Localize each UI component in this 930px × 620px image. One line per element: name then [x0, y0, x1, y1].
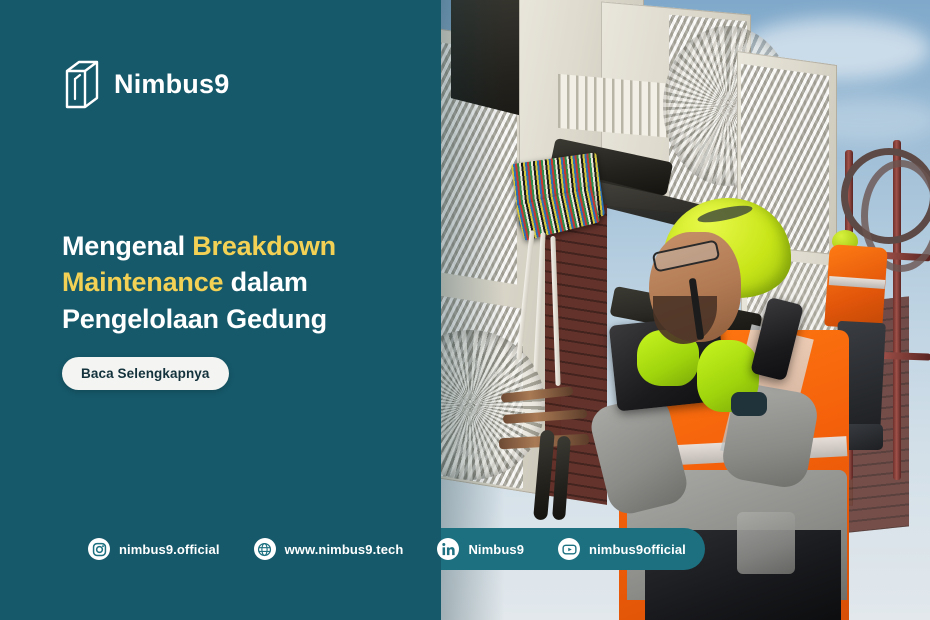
headline-line2-plain: dalam: [223, 267, 307, 297]
isometric-building-icon: [64, 58, 100, 110]
worker1-wristband: [731, 392, 767, 416]
social-bar: nimbus9.official www.nimbus9.tech Ni: [0, 528, 705, 570]
hero-photo: [441, 0, 930, 620]
linkedin-icon: [437, 538, 459, 560]
promo-banner: Nimbus9 Mengenal Breakdown Maintenance d…: [0, 0, 930, 620]
social-link-website[interactable]: www.nimbus9.tech: [254, 538, 404, 560]
social-label-website: www.nimbus9.tech: [285, 542, 404, 557]
headline-line3-plain: Pengelolaan Gedung: [62, 304, 327, 334]
youtube-icon: [558, 538, 580, 560]
social-label-linkedin: Nimbus9: [468, 542, 524, 557]
page-title: Mengenal Breakdown Maintenance dalam Pen…: [62, 228, 392, 337]
worker1-pocket: [737, 512, 795, 574]
social-link-instagram[interactable]: nimbus9.official: [88, 538, 220, 560]
headline-line1-accent: Breakdown: [192, 231, 336, 261]
brand-name: Nimbus9: [114, 71, 229, 98]
social-label-youtube: nimbus9official: [589, 542, 686, 557]
brand-logo[interactable]: Nimbus9: [64, 58, 229, 110]
globe-icon: [254, 538, 276, 560]
instagram-icon: [88, 538, 110, 560]
social-link-linkedin[interactable]: Nimbus9: [437, 538, 524, 560]
read-more-button[interactable]: Baca Selengkapnya: [62, 357, 229, 390]
headline-line2-accent: Maintenance: [62, 267, 223, 297]
social-link-youtube[interactable]: nimbus9official: [558, 538, 686, 560]
social-label-instagram: nimbus9.official: [119, 542, 220, 557]
headline-line1-plain: Mengenal: [62, 231, 192, 261]
